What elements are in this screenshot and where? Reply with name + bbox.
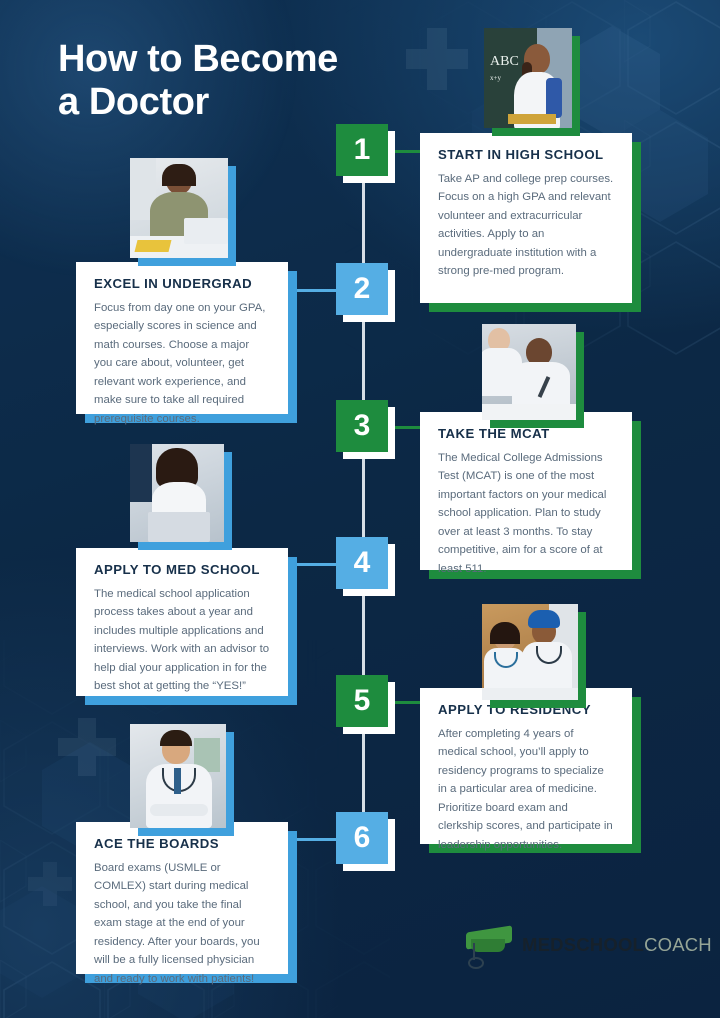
brand-wordmark: MEDSCHOOLCOACH [522,936,712,955]
step-badge-4[interactable]: 4 [336,537,388,589]
step-heading-2: EXCEL IN UNDERGRAD [94,276,270,291]
step-card-4[interactable]: APPLY TO MED SCHOOL The medical school a… [76,548,288,696]
brand-name-bold: MEDSCHOOL [522,934,644,955]
step-photo-1: ABC x+y [484,28,572,128]
step-photo-2 [130,158,228,258]
step-badge-3[interactable]: 3 [336,400,388,452]
medical-cross-icon-mid [28,862,72,906]
step-card-2[interactable]: EXCEL IN UNDERGRAD Focus from day one on… [76,262,288,414]
step-photo-5 [482,604,578,700]
card-content-3: TAKE THE MCAT The Medical College Admiss… [420,412,632,592]
infographic-page: How to Become a Doctor START IN HIGH SCH… [0,0,720,1018]
title-line-2: a Doctor [58,81,438,124]
step-body-2: Focus from day one on your GPA, especial… [94,299,270,428]
step-card-5[interactable]: APPLY TO RESIDENCY After completing 4 ye… [420,688,632,844]
title-line-1: How to Become [58,38,438,81]
step-number-1: 1 [354,135,371,165]
step-body-3: The Medical College Admissions Test (MCA… [438,449,614,578]
step-body-6: Board exams (USMLE or COMLEX) start duri… [94,859,270,988]
step-photo-3 [482,324,576,420]
step-badge-2[interactable]: 2 [336,263,388,315]
connector-2 [290,289,338,292]
step-heading-3: TAKE THE MCAT [438,426,614,441]
card-content-6: ACE THE BOARDS Board exams (USMLE or COM… [76,822,288,1002]
step-badge-6[interactable]: 6 [336,812,388,864]
card-content-2: EXCEL IN UNDERGRAD Focus from day one on… [76,262,288,442]
step-number-3: 3 [354,411,371,441]
step-number-6: 6 [354,823,371,853]
card-content-4: APPLY TO MED SCHOOL The medical school a… [76,548,288,710]
connector-6 [290,838,338,841]
step-card-1[interactable]: START IN HIGH SCHOOL Take AP and college… [420,133,632,303]
step-heading-1: START IN HIGH SCHOOL [438,147,614,162]
timeline-spine [362,150,365,840]
graduation-cap-stethoscope-icon [466,925,512,965]
step-body-1: Take AP and college prep courses. Focus … [438,170,614,281]
card-content-1: START IN HIGH SCHOOL Take AP and college… [420,133,632,295]
step-card-6[interactable]: ACE THE BOARDS Board exams (USMLE or COM… [76,822,288,974]
card-content-5: APPLY TO RESIDENCY After completing 4 ye… [420,688,632,868]
step-number-4: 4 [354,548,371,578]
step-body-5: After completing 4 years of medical scho… [438,725,614,854]
medical-cross-icon-bottom [58,718,116,776]
page-title: How to Become a Doctor [58,38,438,123]
step-number-2: 2 [354,274,371,304]
step-number-5: 5 [354,686,371,716]
step-card-3[interactable]: TAKE THE MCAT The Medical College Admiss… [420,412,632,570]
step-badge-1[interactable]: 1 [336,124,388,176]
brand-name-light: COACH [644,934,712,955]
connector-4 [290,563,338,566]
step-heading-4: APPLY TO MED SCHOOL [94,562,270,577]
step-badge-5[interactable]: 5 [336,675,388,727]
brand-logo[interactable]: MEDSCHOOLCOACH [466,925,712,965]
step-heading-6: ACE THE BOARDS [94,836,270,851]
step-photo-6 [130,724,226,828]
step-photo-4 [130,444,224,542]
step-body-4: The medical school application process t… [94,585,270,696]
